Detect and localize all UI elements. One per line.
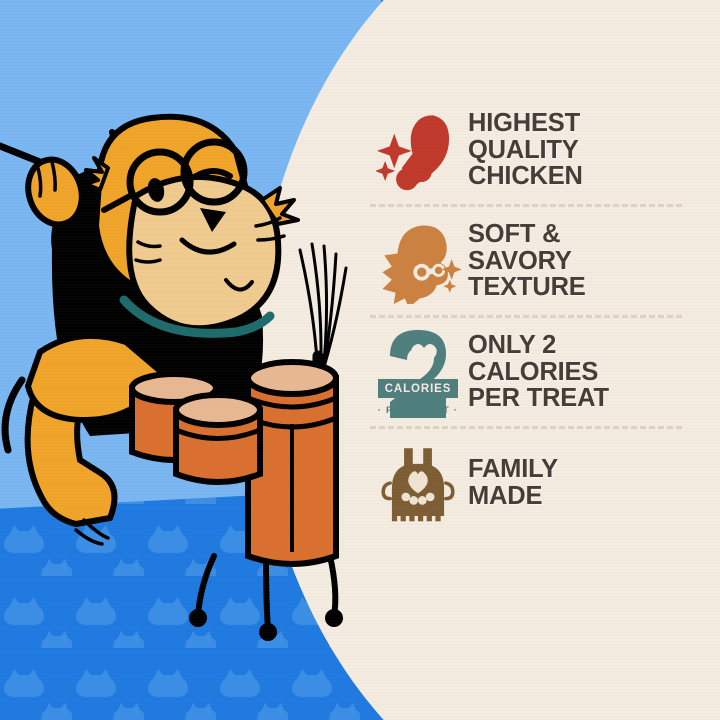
cat-playing-bongos-illustration (0, 0, 400, 720)
feature-label: ONLY 2 CALORIES PER TREAT (468, 332, 609, 412)
calorie-badge-icon: CALORIES · PER TREAT · (368, 326, 468, 418)
feature-row-soft-savory-texture: SOFT & SAVORY TEXTURE (368, 207, 698, 315)
feature-label: SOFT & SAVORY TEXTURE (468, 221, 586, 301)
calorie-band-label: CALORIES (385, 383, 452, 395)
savory-meat-icon (368, 218, 468, 304)
chicken-drumstick-icon (368, 108, 468, 192)
calorie-sub-label: · PER TREAT · (372, 405, 464, 416)
feature-row-highest-quality-chicken: HIGHEST QUALITY CHICKEN (368, 96, 698, 204)
apron-paw-icon (368, 443, 468, 523)
feature-row-family-made: FAMILY MADE (368, 429, 698, 537)
product-feature-graphic: HIGHEST QUALITY CHICKEN (0, 0, 720, 720)
feature-label: FAMILY MADE (468, 456, 558, 509)
calorie-band: CALORIES (378, 379, 458, 398)
feature-list: HIGHEST QUALITY CHICKEN (368, 96, 698, 537)
feature-row-only-2-calories: CALORIES · PER TREAT · ONLY 2 CALORIES P… (368, 318, 698, 426)
feature-label: HIGHEST QUALITY CHICKEN (468, 110, 583, 190)
